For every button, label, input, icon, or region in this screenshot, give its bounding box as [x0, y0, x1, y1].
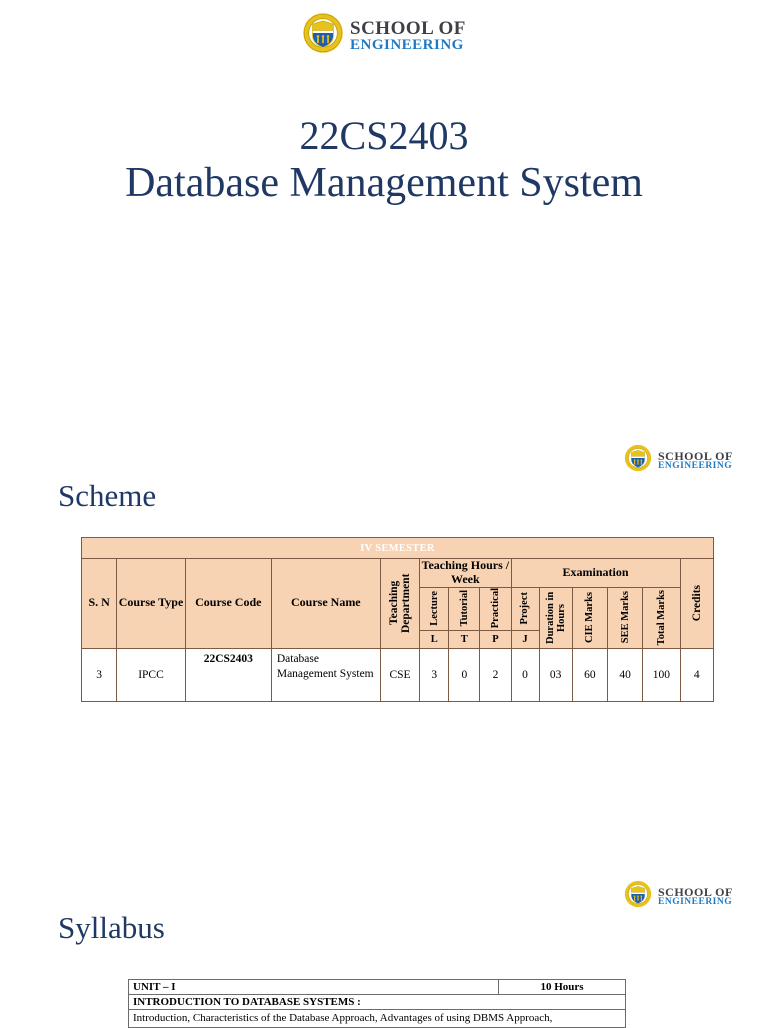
header-course-code: Course Code: [185, 559, 271, 649]
header-tutorial: Tutorial: [449, 587, 480, 630]
header-course-name: Course Name: [271, 559, 380, 649]
school-crest-icon: [302, 12, 344, 59]
header-total-marks-label: Total Marks: [656, 590, 667, 645]
cell-course-name: Database Management System: [271, 648, 380, 701]
cell-duration: 03: [539, 648, 572, 701]
school-crest-icon: [624, 880, 652, 913]
table-row-unit-topic: INTRODUCTION TO DATABASE SYSTEMS :: [129, 995, 626, 1010]
header-teaching-department-label: Teaching Department: [388, 573, 412, 633]
page-title: 22CS2403 Database Management System: [0, 112, 768, 209]
header-course-type: Course Type: [117, 559, 185, 649]
cell-unit-label: UNIT – I: [129, 980, 499, 995]
table-row: 3 IPCC 22CS2403 Database Management Syst…: [82, 648, 714, 701]
logo-line-school-of: SCHOOL OF: [658, 886, 733, 898]
header-credits: Credits: [680, 559, 713, 649]
logo-line-school-of: SCHOOL OF: [350, 19, 466, 38]
header-see-marks-label: SEE Marks: [620, 591, 631, 643]
cell-see-marks: 40: [607, 648, 642, 701]
section-heading-scheme: Scheme: [58, 480, 156, 511]
scheme-table-container: IV SEMESTER S. N Course Type Course Code…: [81, 537, 714, 702]
header-sn: S. N: [82, 559, 117, 649]
subheader-tutorial: T: [449, 630, 480, 648]
header-see-marks: SEE Marks: [607, 587, 642, 648]
logo-header: SCHOOL OF ENGINEERING: [302, 12, 466, 59]
cell-course-code: 22CS2403: [185, 648, 271, 701]
logo-line-engineering: ENGINEERING: [658, 462, 733, 472]
header-total-marks: Total Marks: [643, 587, 680, 648]
course-code-title: 22CS2403: [0, 112, 768, 159]
logo-line-engineering: ENGINEERING: [658, 898, 733, 908]
cell-teaching-department: CSE: [380, 648, 419, 701]
cell-tutorial: 0: [449, 648, 480, 701]
header-lecture: Lecture: [420, 587, 449, 630]
table-row-semester: IV SEMESTER: [82, 538, 714, 559]
header-duration: Duration in Hours: [539, 587, 572, 648]
section-heading-syllabus: Syllabus: [58, 912, 165, 943]
cell-practical: 2: [480, 648, 511, 701]
logo-wordmark: SCHOOL OF ENGINEERING: [658, 450, 733, 472]
table-row-header-1: S. N Course Type Course Code Course Name…: [82, 559, 714, 588]
header-cie-marks: CIE Marks: [572, 587, 607, 648]
syllabus-table-container: UNIT – I 10 Hours INTRODUCTION TO DATABA…: [128, 979, 626, 1028]
header-group-examination: Examination: [511, 559, 680, 588]
header-cie-marks-label: CIE Marks: [584, 592, 595, 643]
semester-band: IV SEMESTER: [82, 538, 714, 559]
course-name-title: Database Management System: [0, 159, 768, 209]
table-row-unit-header: UNIT – I 10 Hours: [129, 980, 626, 995]
cell-unit-hours: 10 Hours: [499, 980, 626, 995]
header-tutorial-label: Tutorial: [459, 590, 470, 626]
cell-credits: 4: [680, 648, 713, 701]
header-practical: Practical: [480, 587, 511, 630]
header-lecture-label: Lecture: [429, 591, 440, 626]
header-group-teaching-hours: Teaching Hours / Week: [420, 559, 511, 588]
logo-wordmark: SCHOOL OF ENGINEERING: [350, 19, 466, 53]
table-row-unit-body: Introduction, Characteristics of the Dat…: [129, 1010, 626, 1028]
header-project: Project: [511, 587, 539, 630]
cell-sn: 3: [82, 648, 117, 701]
cell-unit-topic: INTRODUCTION TO DATABASE SYSTEMS :: [129, 995, 626, 1010]
logo-scheme-section: SCHOOL OF ENGINEERING: [624, 444, 733, 477]
school-crest-icon: [624, 444, 652, 477]
logo-line-school-of: SCHOOL OF: [658, 450, 733, 462]
subheader-lecture: L: [420, 630, 449, 648]
cell-course-type: IPCC: [117, 648, 185, 701]
header-project-label: Project: [519, 592, 530, 624]
logo-wordmark: SCHOOL OF ENGINEERING: [658, 886, 733, 908]
header-duration-label: Duration in Hours: [545, 588, 567, 648]
syllabus-table: UNIT – I 10 Hours INTRODUCTION TO DATABA…: [128, 979, 626, 1028]
cell-project: 0: [511, 648, 539, 701]
subheader-practical: P: [480, 630, 511, 648]
scheme-table: IV SEMESTER S. N Course Type Course Code…: [81, 537, 714, 702]
header-practical-label: Practical: [490, 588, 501, 628]
header-credits-label: Credits: [691, 585, 703, 621]
header-teaching-department: Teaching Department: [380, 559, 419, 649]
cell-unit-body: Introduction, Characteristics of the Dat…: [129, 1010, 626, 1028]
cell-cie-marks: 60: [572, 648, 607, 701]
subheader-project: J: [511, 630, 539, 648]
cell-lecture: 3: [420, 648, 449, 701]
logo-line-engineering: ENGINEERING: [350, 38, 466, 53]
logo-syllabus-section: SCHOOL OF ENGINEERING: [624, 880, 733, 913]
cell-total-marks: 100: [643, 648, 680, 701]
